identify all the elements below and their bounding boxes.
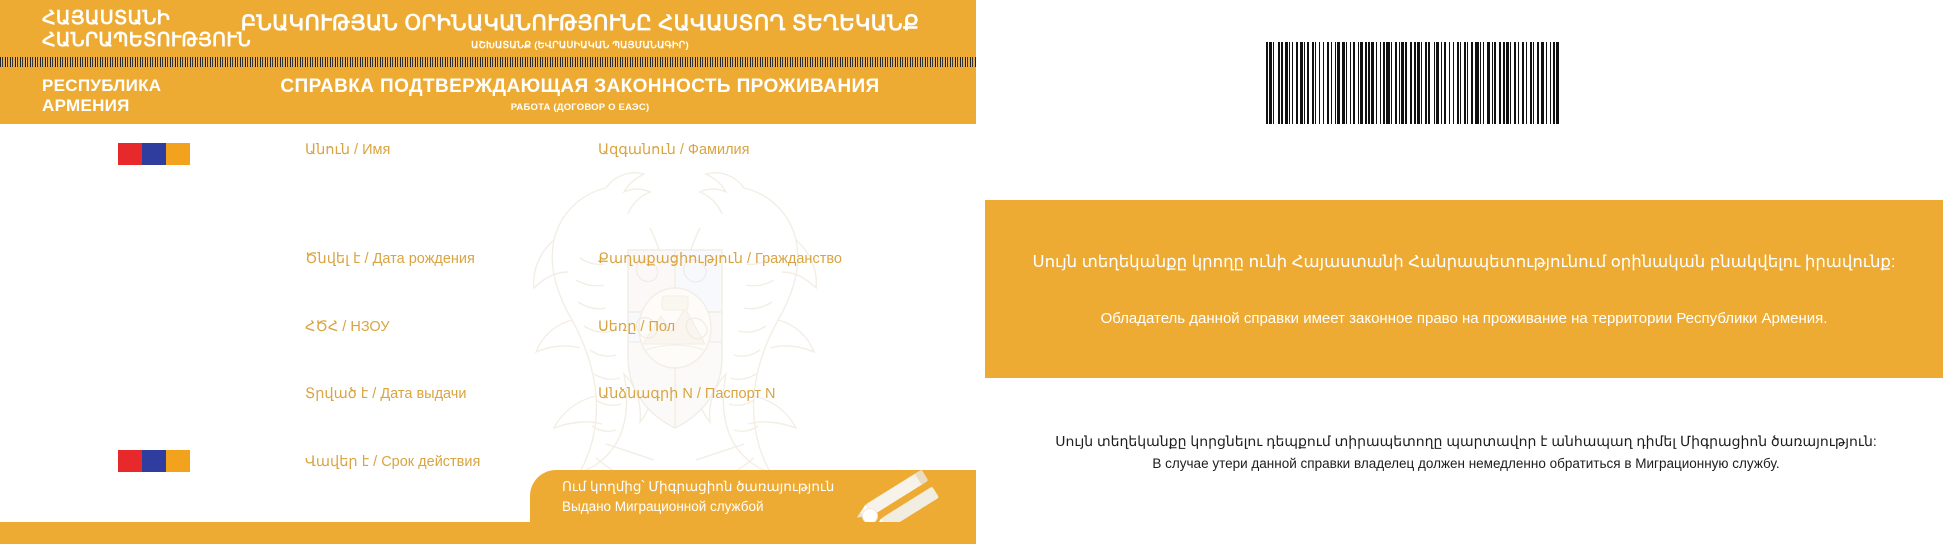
field-label-first-name: Անուն / Имя <box>305 142 390 158</box>
rights-notice-armenian: Սույն տեղեկանքը կրողը ունի Հայաստանի Հան… <box>1007 252 1921 272</box>
armenian-coat-of-arms-watermark <box>510 128 840 508</box>
field-label-valid-until: Վավեր է / Срок действия <box>305 454 480 470</box>
document-title-armenian: ԲՆԱԿՈՒԹՅԱՆ ՕՐԻՆԱԿԱՆՈՒԹՅՈՒՆԸ ՀԱՎԱՍՏՈՂ ՏԵՂ… <box>200 11 960 51</box>
armenian-flag-icon <box>118 143 190 165</box>
field-label-birth-date: Ծնվել է / Дата рождения <box>305 251 475 267</box>
barcode <box>1266 42 1666 124</box>
rights-notice-box: Սույն տեղեկանքը կրողը ունի Հայաստանի Հան… <box>985 200 1943 378</box>
document-subtitle-armenian: ԱՇԽԱՏԱՆՔ (ԵՎՐԱՍԻԱԿԱՆ ՊԱՅՄԱՆԱԳԻՐ) <box>200 40 960 51</box>
field-label-passport-no: Անձնագրի N / Паспорт N <box>598 386 775 402</box>
loss-instructions: Սույն տեղեկանքը կորցնելու դեպքում տիրապե… <box>1016 430 1916 475</box>
field-label-citizenship: Քաղաքացիություն / Гражданство <box>598 251 842 267</box>
barcode-bar <box>1559 42 1560 124</box>
card-bottom-bar <box>0 522 976 544</box>
field-label-sex: Սեռը / Пол <box>598 319 675 335</box>
loss-instructions-armenian: Սույն տեղեկանքը կորցնելու դեպքում տիրապե… <box>1016 430 1916 453</box>
document-subtitle-russian: РАБОТА (ДОГОВОР О ЕАЭС) <box>200 102 960 113</box>
issuer-line-russian: Выдано Миграционной службой <box>562 497 976 517</box>
issuer-line-armenian: Ում կողմից՝ Միգրացիոն ծառայություն <box>562 477 976 497</box>
info-panel: Սույն տեղեկանքը կրողը ունի Հայաստանի Հան… <box>976 0 1952 544</box>
country-name-russian: РЕСПУБЛИКА АРМЕНИЯ <box>42 76 161 116</box>
field-label-last-name: Ազգանուն / Фамилия <box>598 142 750 158</box>
rights-notice-russian: Обладатель данной справки имеет законное… <box>1007 310 1921 327</box>
field-label-ssn: ՀԾՀ / НЗОУ <box>305 319 390 335</box>
loss-instructions-russian: В случае утери данной справки владелец д… <box>1016 453 1916 475</box>
document-title-russian-main: СПРАВКА ПОДТВЕРЖДАЮЩАЯ ЗАКОННОСТЬ ПРОЖИВ… <box>200 76 960 98</box>
microprint-security-strip <box>0 57 976 67</box>
country-name-russian-line1: РЕСПУБЛИКА <box>42 76 161 96</box>
document-title-russian: СПРАВКА ПОДТВЕРЖДАЮЩАЯ ЗАКОННОСТЬ ПРОЖИВ… <box>200 76 960 113</box>
country-name-russian-line2: АРМЕНИЯ <box>42 96 161 116</box>
field-label-issue-date: Տրված է / Дата выдачи <box>305 386 466 402</box>
armenian-flag-icon <box>118 450 190 472</box>
residence-permit-card: ՀԱՅԱՍՏԱՆԻ ՀԱՆՐԱՊԵՏՈՒԹՅՈՒՆ РЕСПУБЛИКА АРМ… <box>0 0 976 544</box>
issuer-panel: Ում կողմից՝ Միգրացիոն ծառայություն Выдан… <box>530 470 976 522</box>
document-title-armenian-main: ԲՆԱԿՈՒԹՅԱՆ ՕՐԻՆԱԿԱՆՈՒԹՅՈՒՆԸ ՀԱՎԱՍՏՈՂ ՏԵՂ… <box>200 11 960 36</box>
